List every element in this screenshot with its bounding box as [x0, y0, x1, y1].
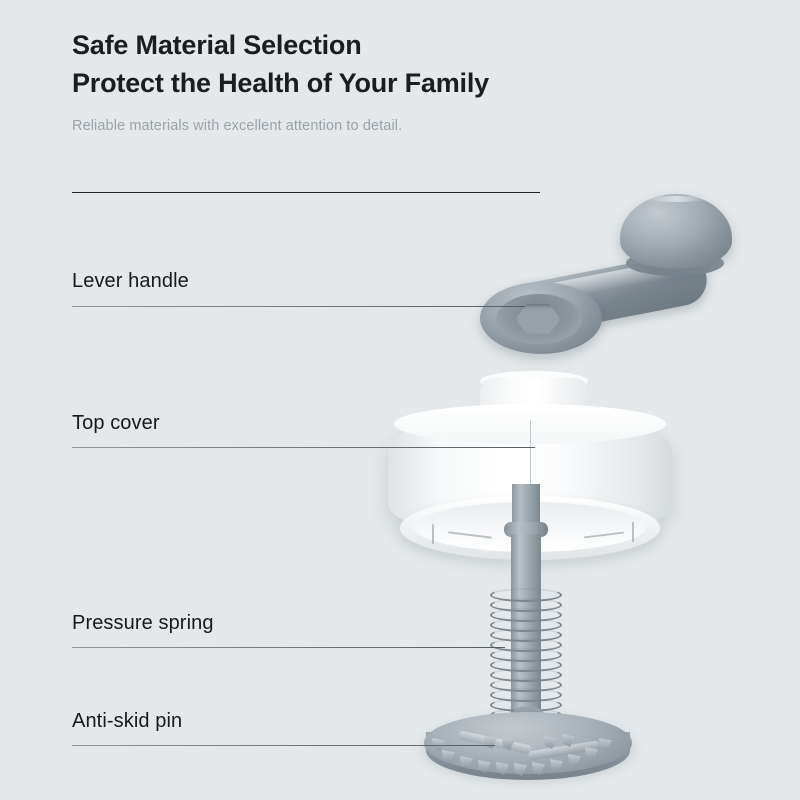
base-tooth	[460, 756, 473, 769]
cover-inner-rib	[632, 522, 634, 542]
leader-line-pressure-spring	[72, 647, 505, 648]
base-tooth	[532, 762, 545, 775]
spring-coil	[490, 618, 562, 632]
spring-coil	[490, 668, 562, 682]
cover-boss	[480, 378, 588, 422]
shaft-collar	[504, 522, 548, 537]
cover-inner-rib	[584, 532, 624, 539]
callout-top-cover: Top cover	[72, 410, 160, 436]
header-divider	[72, 192, 540, 193]
base-tooth	[496, 762, 509, 775]
spring-coil	[490, 688, 562, 702]
cover-rim-interior	[414, 502, 646, 552]
base-hub	[512, 706, 544, 724]
cover-inner-rib	[448, 531, 492, 538]
spring-coil	[490, 638, 562, 652]
leader-line-anti-skid-pin	[72, 745, 495, 746]
cover-seam	[530, 420, 531, 502]
base-skirt	[426, 732, 630, 780]
leader-line-lever-handle	[72, 306, 525, 307]
spring-coil	[490, 608, 562, 622]
spring-coil	[490, 698, 562, 712]
lever-arm-highlight	[526, 256, 694, 305]
page-title-line-1: Safe Material Selection	[72, 26, 732, 64]
lever-hex-socket	[515, 304, 561, 334]
top-cover-part	[388, 378, 672, 574]
cover-body-top	[394, 404, 666, 444]
anti-skid-pin-part	[424, 706, 632, 790]
base-tooth	[484, 736, 497, 749]
callout-label-pressure-spring: Pressure spring	[72, 610, 214, 636]
leader-line-top-cover	[72, 447, 535, 448]
spring-coil	[490, 598, 562, 612]
base-tooth	[478, 760, 491, 773]
spring-coil	[490, 648, 562, 662]
base-tooth	[544, 736, 557, 749]
base-tooth	[568, 754, 581, 767]
base-disc	[424, 712, 632, 774]
spring-coil	[490, 628, 562, 642]
spring-coil	[490, 678, 562, 692]
callout-label-anti-skid-pin: Anti-skid pin	[72, 708, 182, 734]
base-tooth	[562, 734, 575, 747]
page-title-line-2: Protect the Health of Your Family	[72, 64, 732, 102]
base-vane	[528, 740, 601, 760]
lever-knob-seam	[646, 196, 708, 202]
cover-inner-rib	[432, 524, 434, 544]
callout-label-top-cover: Top cover	[72, 410, 160, 436]
callout-label-lever-handle: Lever handle	[72, 268, 189, 294]
base-tooth	[442, 750, 455, 763]
callout-lever-handle: Lever handle	[72, 268, 189, 294]
callout-pressure-spring: Pressure spring	[72, 610, 214, 636]
lever-knob	[620, 194, 732, 268]
base-tooth	[599, 738, 612, 751]
spring-coil	[490, 588, 562, 602]
shaft-upper-hex	[512, 484, 540, 526]
base-vane	[458, 730, 532, 754]
spring-coil	[490, 658, 562, 672]
base-tooth	[514, 763, 527, 776]
base-tooth	[550, 759, 563, 772]
cover-boss-top	[480, 371, 588, 391]
spring-coil	[490, 708, 562, 722]
lever-hub-recess	[496, 294, 582, 344]
lever-hub	[480, 282, 602, 354]
base-tooth	[502, 737, 515, 750]
header-block: Safe Material Selection Protect the Heal…	[72, 26, 732, 136]
cover-rim	[400, 496, 660, 560]
lever-knob-base	[626, 250, 724, 276]
product-infographic: Safe Material Selection Protect the Heal…	[0, 0, 800, 800]
lever-handle-part	[470, 190, 740, 365]
page-subtitle: Reliable materials with excellent attent…	[72, 116, 732, 136]
lever-arm	[505, 249, 711, 338]
pressure-spring-part	[490, 588, 562, 728]
cover-body	[388, 412, 672, 536]
threaded-shaft	[511, 534, 541, 724]
callout-anti-skid-pin: Anti-skid pin	[72, 708, 182, 734]
base-tooth	[585, 747, 598, 760]
